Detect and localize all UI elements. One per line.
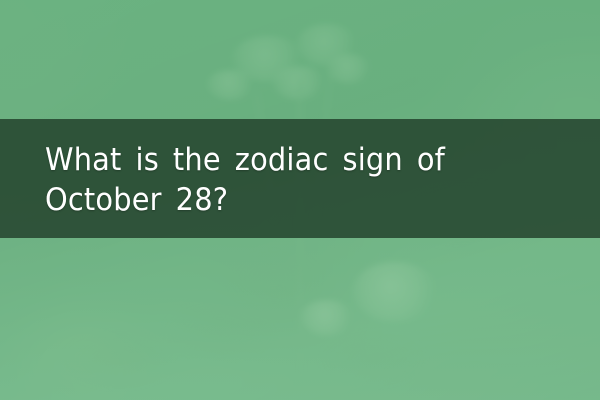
screenshot-canvas: What is the zodiac sign of October 28? (0, 0, 600, 400)
caption-banner: What is the zodiac sign of October 28? (0, 119, 600, 238)
caption-text: What is the zodiac sign of October 28? (45, 140, 535, 220)
